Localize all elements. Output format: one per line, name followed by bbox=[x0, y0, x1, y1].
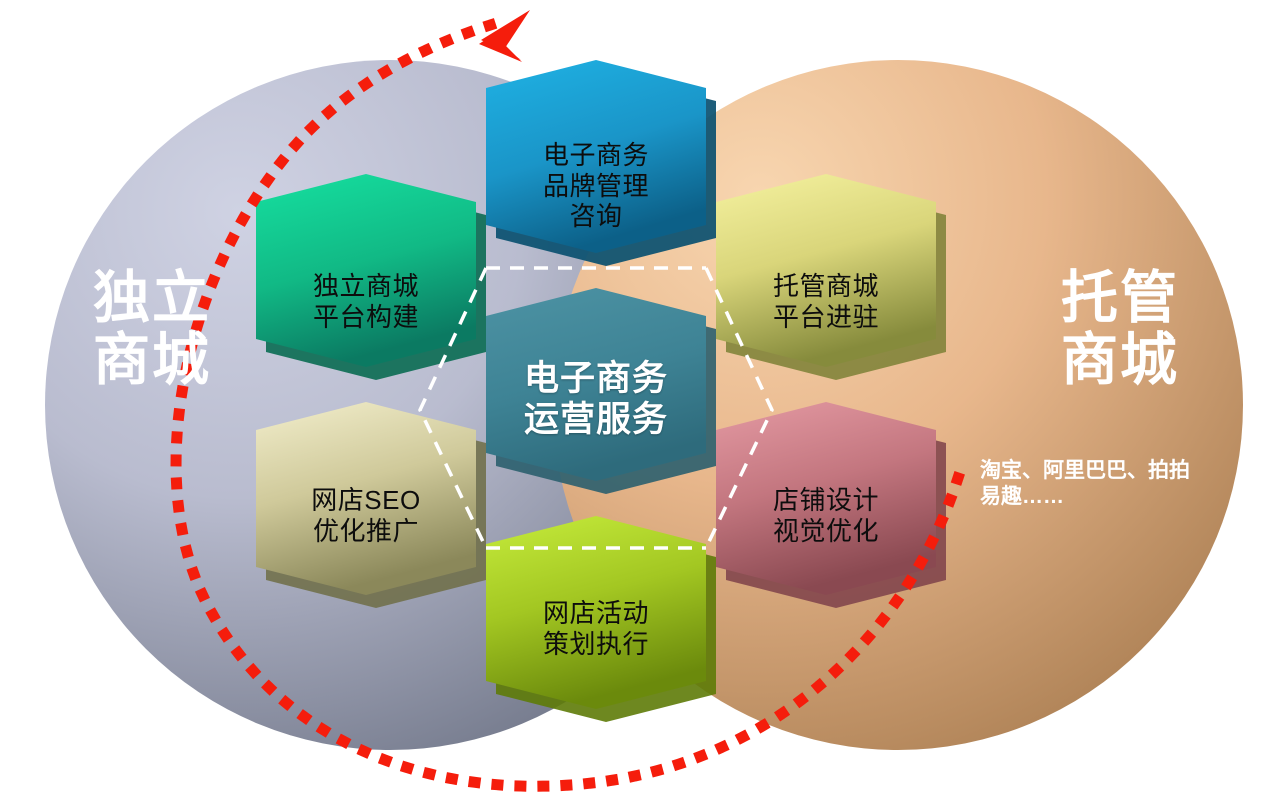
hexagon-lower-left[interactable] bbox=[256, 402, 486, 608]
hexagon-upper-left[interactable] bbox=[256, 174, 486, 380]
diagram-canvas: 独立 商城 托管 商城 淘宝、阿里巴巴、拍拍 易趣…… 电子商务 品牌管理 咨询… bbox=[0, 0, 1286, 792]
diagram-svg bbox=[0, 0, 1286, 792]
hexagon-upper-right[interactable] bbox=[716, 174, 946, 380]
hexagon-top[interactable] bbox=[486, 60, 716, 266]
hexagon-center[interactable] bbox=[486, 288, 716, 494]
